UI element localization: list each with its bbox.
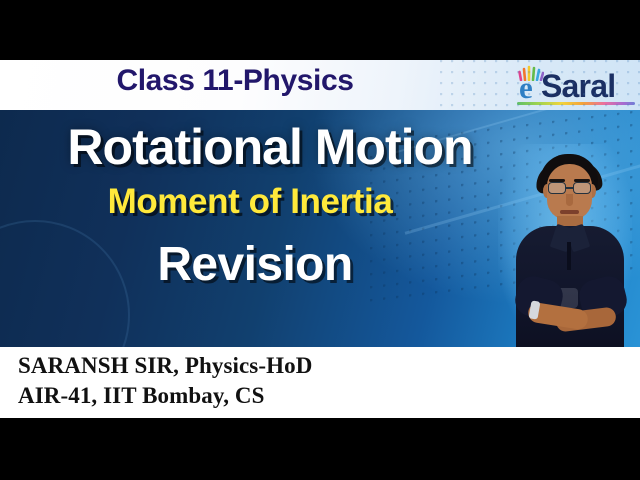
letterbox-top [0,0,640,60]
mouth [560,210,579,214]
esaral-logo: e Saral [509,65,637,107]
title-main: Rotational Motion [0,118,540,176]
instructor-portrait [490,138,640,347]
letterbox-bottom [0,418,640,480]
instructor-credit-bar: SARANSH SIR, Physics-HoD AIR-41, IIT Bom… [0,347,640,418]
rainbow-underline-icon [517,102,635,105]
main-panel: Rotational Motion Moment of Inertia Revi… [0,110,640,347]
bridge [566,187,573,189]
shirt-placket [567,242,571,270]
thumbnail-content: Class 11-Physics e Saral [0,60,640,418]
colorful-burst-icon [518,65,544,81]
glasses-icon [547,182,593,194]
esaral-e-mark: e [519,72,533,103]
title-tertiary: Revision [0,237,510,292]
lens-left [548,182,566,194]
lens-right [573,182,591,194]
instructor-credentials: AIR-41, IIT Bombay, CS [18,383,265,409]
header-bar: Class 11-Physics e Saral [0,60,640,110]
thumbnail-stage: Class 11-Physics e Saral [0,0,640,480]
nose [566,194,573,206]
page-title: Class 11-Physics [0,64,470,98]
title-subtitle: Moment of Inertia [0,182,500,222]
instructor-name: SARANSH SIR, Physics-HoD [18,353,312,379]
esaral-wordmark: Saral [541,70,615,102]
